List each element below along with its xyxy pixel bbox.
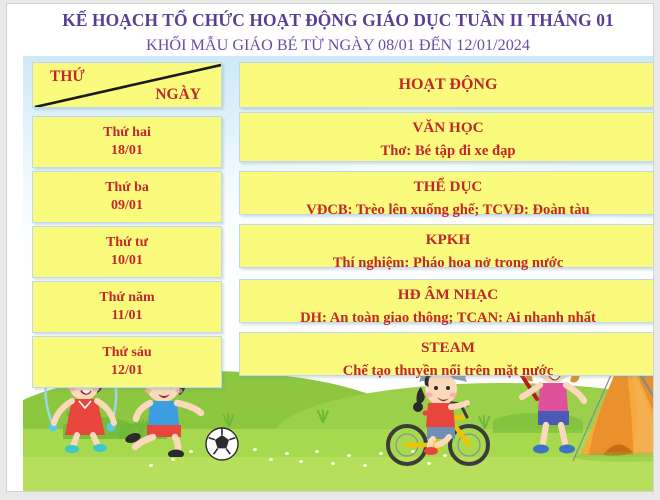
header-label-activity: HOẠT ĐỘNG bbox=[240, 63, 653, 107]
page-title: KẾ HOẠCH TỔ CHỨC HOẠT ĐỘNG GIÁO DỤC TUẦN… bbox=[23, 4, 653, 29]
activity-title: THỂ DỤC bbox=[240, 172, 653, 195]
activity-detail: Thơ: Bé tập đi xe đạp bbox=[240, 136, 653, 160]
table-row-day-cell: Thứ năm 11/01 bbox=[32, 281, 222, 333]
table-row-day-cell: Thứ tư 10/01 bbox=[32, 226, 222, 278]
header-cell-activity: HOẠT ĐỘNG bbox=[239, 62, 653, 108]
document-title-block: KẾ HOẠCH TỔ CHỨC HOẠT ĐỘNG GIÁO DỤC TUẦN… bbox=[23, 4, 653, 56]
grass-tuft bbox=[313, 409, 331, 423]
table-row-day-cell: Thứ sáu 12/01 bbox=[32, 336, 222, 388]
activity-detail: Chế tạo thuyền nổi trên mặt nước bbox=[240, 356, 653, 380]
table-row-day-cell: Thứ hai 18/01 bbox=[32, 116, 222, 168]
day-date: 11/01 bbox=[33, 307, 221, 325]
activity-title: STEAM bbox=[240, 333, 653, 356]
activity-title: KPKH bbox=[240, 225, 653, 248]
activity-detail: Thí nghiệm: Pháo hoa nở trong nước bbox=[240, 248, 653, 272]
day-name: Thứ ba bbox=[33, 179, 221, 197]
table-row-activity-cell: KPKH Thí nghiệm: Pháo hoa nở trong nước bbox=[239, 224, 653, 268]
grass-tuft bbox=[219, 411, 237, 427]
header-label-ngay: NGÀY bbox=[155, 86, 201, 104]
day-date: 12/01 bbox=[33, 362, 221, 380]
activity-detail: VĐCB: Trèo lên xuống ghế; TCVĐ: Đoàn tàu bbox=[240, 195, 653, 219]
day-name: Thứ sáu bbox=[33, 344, 221, 362]
day-name: Thứ tư bbox=[33, 234, 221, 252]
day-date: 09/01 bbox=[33, 197, 221, 215]
day-date: 18/01 bbox=[33, 142, 221, 160]
day-name: Thứ hai bbox=[33, 124, 221, 142]
table-row-activity-cell: HĐ ÂM NHẠC DH: An toàn giao thông; TCAN:… bbox=[239, 279, 653, 323]
page-subtitle: KHỐI MẪU GIÁO BÉ TỪ NGÀY 08/01 ĐẾN 12/01… bbox=[23, 29, 653, 53]
table-row-activity-cell: VĂN HỌC Thơ: Bé tập đi xe đạp bbox=[239, 112, 653, 162]
activity-detail: DH: An toàn giao thông; TCAN: Ai nhanh n… bbox=[240, 303, 653, 327]
header-label-thu: THỨ bbox=[50, 68, 85, 86]
table-row-activity-cell: STEAM Chế tạo thuyền nổi trên mặt nước bbox=[239, 332, 653, 376]
table-row-activity-cell: THỂ DỤC VĐCB: Trèo lên xuống ghế; TCVĐ: … bbox=[239, 171, 653, 215]
activity-title: HĐ ÂM NHẠC bbox=[240, 280, 653, 303]
soccer-ball bbox=[205, 427, 239, 461]
day-name: Thứ năm bbox=[33, 289, 221, 307]
activity-title: VĂN HỌC bbox=[240, 113, 653, 136]
table-row-day-cell: Thứ ba 09/01 bbox=[32, 171, 222, 223]
slide-canvas: KẾ HOẠCH TỔ CHỨC HOẠT ĐỘNG GIÁO DỤC TUẦN… bbox=[7, 4, 653, 491]
day-date: 10/01 bbox=[33, 252, 221, 270]
header-cell-day: THỨ NGÀY bbox=[32, 62, 222, 108]
screenshot-frame: KẾ HOẠCH TỔ CHỨC HOẠT ĐỘNG GIÁO DỤC TUẦN… bbox=[0, 0, 660, 500]
